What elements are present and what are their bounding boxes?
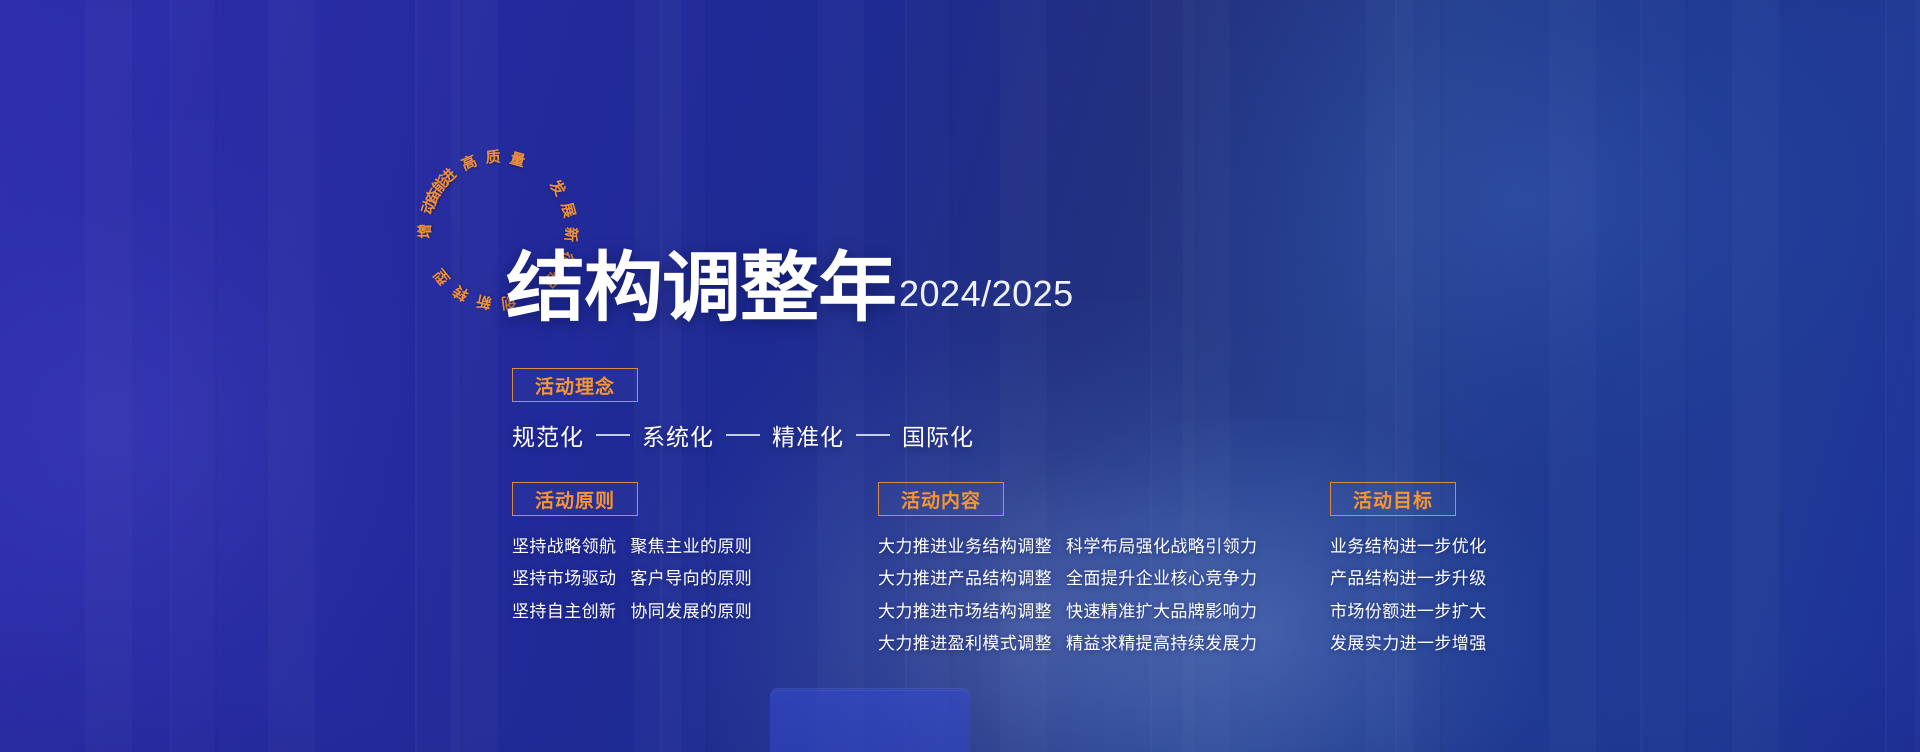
badge-content[interactable]: 活动内容 — [878, 482, 1004, 516]
concept-item-3: 国际化 — [902, 418, 974, 452]
title-year: 2024/2025 — [899, 273, 1074, 325]
list-item: 大力推进盈利模式调整精益求精提高持续发展力 — [878, 631, 1257, 657]
background-glow-top-right — [1180, 0, 1880, 460]
list-item-secondary: 全面提升企业核心竞争力 — [1066, 566, 1257, 592]
concept-item-1: 系统化 — [642, 418, 714, 452]
list-item-secondary: 快速精准扩大品牌影响力 — [1066, 599, 1257, 625]
list-item: 大力推进市场结构调整快速精准扩大品牌影响力 — [878, 599, 1257, 625]
column-principles: 活动原则 坚持战略领航聚焦主业的原则坚持市场驱动客户导向的原则坚持自主创新协同发… — [512, 482, 752, 625]
list-item-secondary: 科学布局强化战略引领力 — [1066, 534, 1257, 560]
list-item: 市场份额进一步扩大 — [1330, 599, 1487, 625]
title-row: 结构调整年 2024/2025 — [506, 252, 1074, 325]
badge-wrap: 活动目标 — [1330, 482, 1487, 516]
list-item-primary: 大力推进盈利模式调整 — [878, 631, 1052, 657]
badge-wrap: 活动内容 — [878, 482, 1257, 516]
building-block — [770, 690, 970, 752]
badge-wrap: 活动原则 — [512, 482, 752, 516]
list-item: 坚持自主创新协同发展的原则 — [512, 599, 752, 625]
badge-principles[interactable]: 活动原则 — [512, 482, 638, 516]
building-block — [770, 688, 970, 752]
dash-separator-icon — [596, 434, 630, 436]
concept-item-2: 精准化 — [772, 418, 844, 452]
list-item: 坚持市场驱动客户导向的原则 — [512, 566, 752, 592]
list-item-primary: 产品结构进一步升级 — [1330, 566, 1487, 592]
list-item: 业务结构进一步优化 — [1330, 534, 1487, 560]
rows-principles: 坚持战略领航聚焦主业的原则坚持市场驱动客户导向的原则坚持自主创新协同发展的原则 — [512, 534, 752, 625]
badge-concept[interactable]: 活动理念 — [512, 368, 638, 402]
list-item-primary: 大力推进业务结构调整 — [878, 534, 1052, 560]
dash-separator-icon — [856, 434, 890, 436]
column-goals: 活动目标 业务结构进一步优化产品结构进一步升级市场份额进一步扩大发展实力进一步增… — [1330, 482, 1487, 657]
list-item-secondary: 客户导向的原则 — [630, 566, 752, 592]
dash-separator-icon — [726, 434, 760, 436]
list-item-primary: 市场份额进一步扩大 — [1330, 599, 1487, 625]
list-item-primary: 发展实力进一步增强 — [1330, 631, 1487, 657]
list-item-primary: 大力推进产品结构调整 — [878, 566, 1052, 592]
list-item-primary: 坚持战略领航 — [512, 534, 616, 560]
rows-content: 大力推进业务结构调整科学布局强化战略引领力大力推进产品结构调整全面提升企业核心竞… — [878, 534, 1257, 657]
list-item: 大力推进产品结构调整全面提升企业核心竞争力 — [878, 566, 1257, 592]
list-item: 发展实力进一步增强 — [1330, 631, 1487, 657]
concept-badge-wrap: 活动理念 — [512, 368, 638, 402]
list-item: 产品结构进一步升级 — [1330, 566, 1487, 592]
list-item: 坚持战略领航聚焦主业的原则 — [512, 534, 752, 560]
list-item-primary: 坚持自主创新 — [512, 599, 616, 625]
list-item-secondary: 精益求精提高持续发展力 — [1066, 631, 1257, 657]
badge-goals[interactable]: 活动目标 — [1330, 482, 1456, 516]
page-title: 结构调整年 — [506, 252, 896, 325]
concept-items: 规范化 系统化 精准化 国际化 — [512, 418, 974, 452]
promo-banner: 奋进高质量发展新征程创新转型增动能 结构调整年 2024/2025 活动理念 规… — [0, 0, 1920, 752]
list-item: 大力推进业务结构调整科学布局强化战略引领力 — [878, 534, 1257, 560]
rows-goals: 业务结构进一步优化产品结构进一步升级市场份额进一步扩大发展实力进一步增强 — [1330, 534, 1487, 657]
list-item-primary: 坚持市场驱动 — [512, 566, 616, 592]
list-item-secondary: 协同发展的原则 — [630, 599, 752, 625]
concept-item-0: 规范化 — [512, 418, 584, 452]
column-content: 活动内容 大力推进业务结构调整科学布局强化战略引领力大力推进产品结构调整全面提升… — [878, 482, 1257, 657]
list-item-primary: 业务结构进一步优化 — [1330, 534, 1487, 560]
background-glow-left — [0, 120, 440, 740]
list-item-secondary: 聚焦主业的原则 — [630, 534, 752, 560]
list-item-primary: 大力推进市场结构调整 — [878, 599, 1052, 625]
